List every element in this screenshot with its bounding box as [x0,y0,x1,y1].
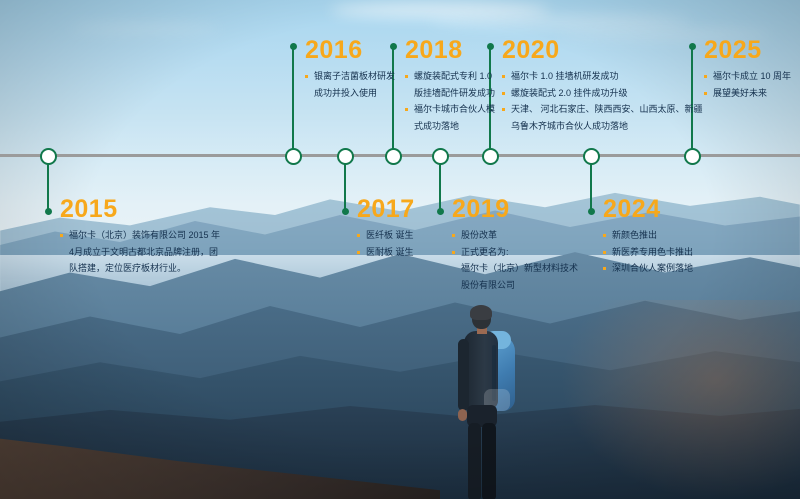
bullet-item: 福尔卡（北京）新型材料技术 [452,262,578,276]
bullet-item: 医耐板 诞生 [357,246,415,260]
timeline-entry-2019[interactable]: 2019股份改革正式更名为:福尔卡（北京）新型材料技术股份有限公司 [452,197,578,295]
bullet-item: 乌鲁木齐城市合伙人成功落地 [502,120,703,134]
bullet-list-2016: 银离子洁菌板材研发成功并投入使用 [305,70,395,100]
timeline-entry-2015[interactable]: 2015福尔卡（北京）装饰有限公司 2015 年4月成立于文明古都北京品牌注册，… [60,197,220,279]
bullet-item: 福尔卡 1.0 挂墙机研发成功 [502,70,703,84]
bullet-list-2018: 螺旋装配式专利 1.0版挂墙配件研发成功福尔卡城市合伙人模式成功落地 [405,70,495,133]
bullet-item: 股份改革 [452,229,578,243]
year-label-2020: 2020 [502,38,703,63]
year-label-2016: 2016 [305,38,395,63]
bullet-list-2024: 新颜色推出新医养专用色卡推出深圳合伙人案例落地 [603,229,693,276]
timeline-stem-cap-2015 [45,208,52,215]
bullet-list-2019: 股份改革正式更名为:福尔卡（北京）新型材料技术股份有限公司 [452,229,578,292]
bullet-item: 银离子洁菌板材研发 [305,70,395,84]
timeline-entry-2025[interactable]: 2025福尔卡成立 10 周年展望美好未来 [704,38,791,103]
timeline-node-2024[interactable] [583,148,600,165]
bullet-item: 螺旋装配式 2.0 挂件成功升级 [502,87,703,101]
bullet-item: 新医养专用色卡推出 [603,246,693,260]
bullet-list-2025: 福尔卡成立 10 周年展望美好未来 [704,70,791,100]
bullet-item: 医纤板 诞生 [357,229,415,243]
bullet-item: 天津、 河北石家庄、陕西西安、山西太原、新疆 [502,103,703,117]
timeline-entry-2024[interactable]: 2024新颜色推出新医养专用色卡推出深圳合伙人案例落地 [603,197,693,279]
timeline-node-2017[interactable] [337,148,354,165]
timeline-entry-2018[interactable]: 2018螺旋装配式专利 1.0版挂墙配件研发成功福尔卡城市合伙人模式成功落地 [405,38,495,136]
bullet-item: 成功并投入使用 [305,87,395,101]
timeline-node-2015[interactable] [40,148,57,165]
timeline-stem-cap-2017 [342,208,349,215]
timeline-entry-2020[interactable]: 2020福尔卡 1.0 挂墙机研发成功螺旋装配式 2.0 挂件成功升级天津、 河… [502,38,703,136]
bullet-item: 福尔卡城市合伙人模 [405,103,495,117]
bullet-item: 队搭建，定位医疗板材行业。 [60,262,220,276]
timeline-entry-2016[interactable]: 2016银离子洁菌板材研发成功并投入使用 [305,38,395,103]
timeline-stem-cap-2016 [290,43,297,50]
timeline-node-2019[interactable] [432,148,449,165]
year-label-2018: 2018 [405,38,495,63]
timeline-stem-2016 [292,46,294,155]
timeline-entry-2017[interactable]: 2017医纤板 诞生医耐板 诞生 [357,197,415,262]
timeline-stem-cap-2024 [588,208,595,215]
timeline-node-2016[interactable] [285,148,302,165]
year-label-2017: 2017 [357,197,415,222]
bullet-item: 深圳合伙人案例落地 [603,262,693,276]
bullet-item: 版挂墙配件研发成功 [405,87,495,101]
bullet-item: 福尔卡成立 10 周年 [704,70,791,84]
timeline-infographic: 2015福尔卡（北京）装饰有限公司 2015 年4月成立于文明古都北京品牌注册，… [0,0,800,499]
bullet-item: 新颜色推出 [603,229,693,243]
bullet-list-2017: 医纤板 诞生医耐板 诞生 [357,229,415,259]
timeline-node-2025[interactable] [684,148,701,165]
year-label-2015: 2015 [60,197,220,222]
timeline-node-2018[interactable] [385,148,402,165]
bullet-item: 正式更名为: [452,246,578,260]
bullet-item: 展望美好未来 [704,87,791,101]
year-label-2019: 2019 [452,197,578,222]
timeline-stem-cap-2019 [437,208,444,215]
year-label-2025: 2025 [704,38,791,63]
bullet-item: 螺旋装配式专利 1.0 [405,70,495,84]
bullet-item: 4月成立于文明古都北京品牌注册，团 [60,246,220,260]
bullet-list-2015: 福尔卡（北京）装饰有限公司 2015 年4月成立于文明古都北京品牌注册，团队搭建… [60,229,220,276]
bullet-item: 福尔卡（北京）装饰有限公司 2015 年 [60,229,220,243]
bullet-item: 式成功落地 [405,120,495,134]
bullet-list-2020: 福尔卡 1.0 挂墙机研发成功螺旋装配式 2.0 挂件成功升级天津、 河北石家庄… [502,70,703,133]
bullet-item: 股份有限公司 [452,279,578,293]
year-label-2024: 2024 [603,197,693,222]
timeline-node-2020[interactable] [482,148,499,165]
